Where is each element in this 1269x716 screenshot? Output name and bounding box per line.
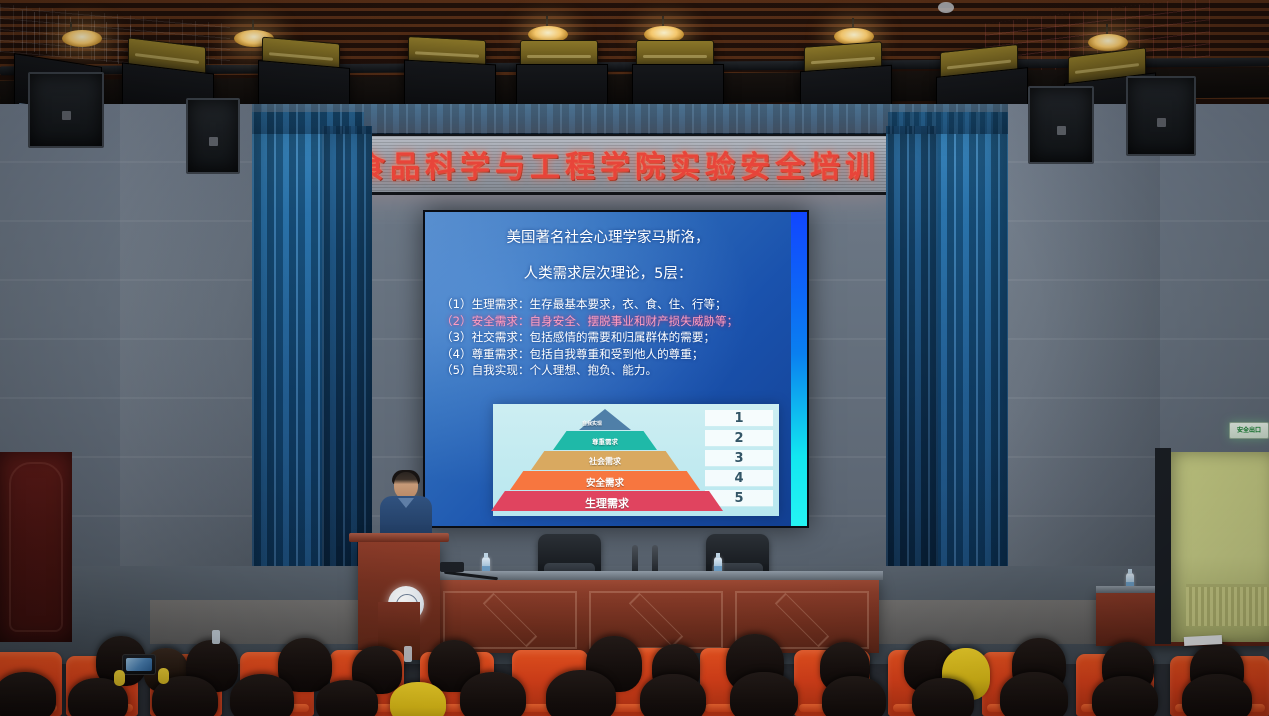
pyramid-tier-2-label: 尊重需求 (555, 436, 655, 446)
presentation-slide: 美国著名社会心理学家马斯洛， 人类需求层次理论，5层： （1）生理需求：生存最基… (425, 212, 807, 526)
audience-head (730, 672, 798, 716)
audience-head (640, 674, 706, 716)
smoke-detector-icon (938, 2, 954, 13)
slide-list-item-2: （2）安全需求：自身安全、摆脱事业和财产损失威胁等； (441, 313, 789, 330)
hand-right (158, 668, 169, 684)
smartphone-screen (126, 658, 152, 671)
pyramid-number-1: 1 (705, 410, 773, 427)
audience-head (316, 680, 378, 716)
wall-speaker-right (1028, 86, 1094, 164)
slide-list-item-1: （1）生理需求：生存最基本要求，衣、食、住、行等； (441, 296, 789, 313)
audience-head (912, 678, 974, 716)
slide-list-item-4: （4）尊重需求：包括自我尊重和受到他人的尊重； (441, 346, 789, 363)
maslow-pyramid-diagram: 1 2 3 4 5 自我实现 尊重需求 社会需求 安全需求 (493, 404, 779, 516)
pyramid-number-3: 3 (705, 450, 773, 467)
slide-accent-bar (791, 212, 807, 526)
stage-curtain-right-inner (886, 126, 938, 626)
wall-speaker-right-2 (1126, 76, 1196, 156)
led-banner: 食品科学与工程学院实验安全培训 (345, 133, 890, 195)
door-left (0, 452, 72, 642)
audience-head (546, 670, 616, 716)
slide-list-item-5: （5）自我实现：个人理想、抱负、能力。 (441, 362, 789, 379)
radiator (1186, 584, 1269, 626)
pyramid-number-2: 2 (705, 430, 773, 447)
smartphone-camera (122, 654, 156, 675)
open-doorway-right (1168, 452, 1269, 642)
audience-head (1092, 676, 1158, 716)
hand-left (114, 670, 125, 686)
av-box (440, 562, 464, 572)
audience-area (0, 626, 1269, 716)
audience-head (0, 672, 56, 716)
lectern-top (349, 533, 449, 542)
audience-head (1182, 674, 1252, 716)
ceiling-spotlight (1088, 34, 1128, 51)
slide-needs-list: （1）生理需求：生存最基本要求，衣、食、住、行等； （2）安全需求：自身安全、摆… (441, 296, 789, 379)
ceiling-spotlight (62, 30, 102, 47)
audience-head-yellow-hood (390, 682, 446, 716)
curtain-valance (252, 104, 1008, 134)
slide-list-item-3: （3）社交需求：包括感情的需要和归属群体的需要； (441, 329, 789, 346)
pyramid-tier-4-label: 安全需求 (512, 475, 698, 489)
led-banner-text: 食品科学与工程学院实验安全培训 (345, 136, 890, 192)
audience-head (230, 674, 294, 716)
audience-head (460, 672, 526, 716)
pyramid-tier-5-label: 生理需求 (493, 495, 721, 511)
emergency-exit-sign: 安全出口 (1229, 422, 1269, 439)
slide-heading-1: 美国著名社会心理学家马斯洛， (425, 226, 791, 247)
pyramid-tier-1-label: 自我实现 (567, 420, 617, 427)
audience-head (1000, 672, 1068, 716)
lecture-hall-photo: 食品科学与工程学院实验安全培训 美国著名社会心理学家马斯洛， 人类需求层次理论，… (0, 0, 1269, 716)
pyramid-tier-3-label: 社会需求 (533, 456, 677, 467)
pyramid-number-4: 4 (705, 470, 773, 487)
audience-head (822, 676, 886, 716)
floor-bottle-2 (404, 646, 412, 662)
exit-sign-label: 安全出口 (1237, 428, 1261, 434)
wall-speaker-left (28, 72, 104, 148)
wall-speaker-left-2 (186, 98, 240, 174)
door-frame-right (1155, 448, 1171, 644)
floor-bottle (212, 630, 220, 644)
presenter-head (394, 472, 418, 499)
projection-screen: 美国著名社会心理学家马斯洛， 人类需求层次理论，5层： （1）生理需求：生存最基… (423, 210, 809, 528)
slide-heading-2: 人类需求层次理论，5层： (425, 262, 791, 283)
